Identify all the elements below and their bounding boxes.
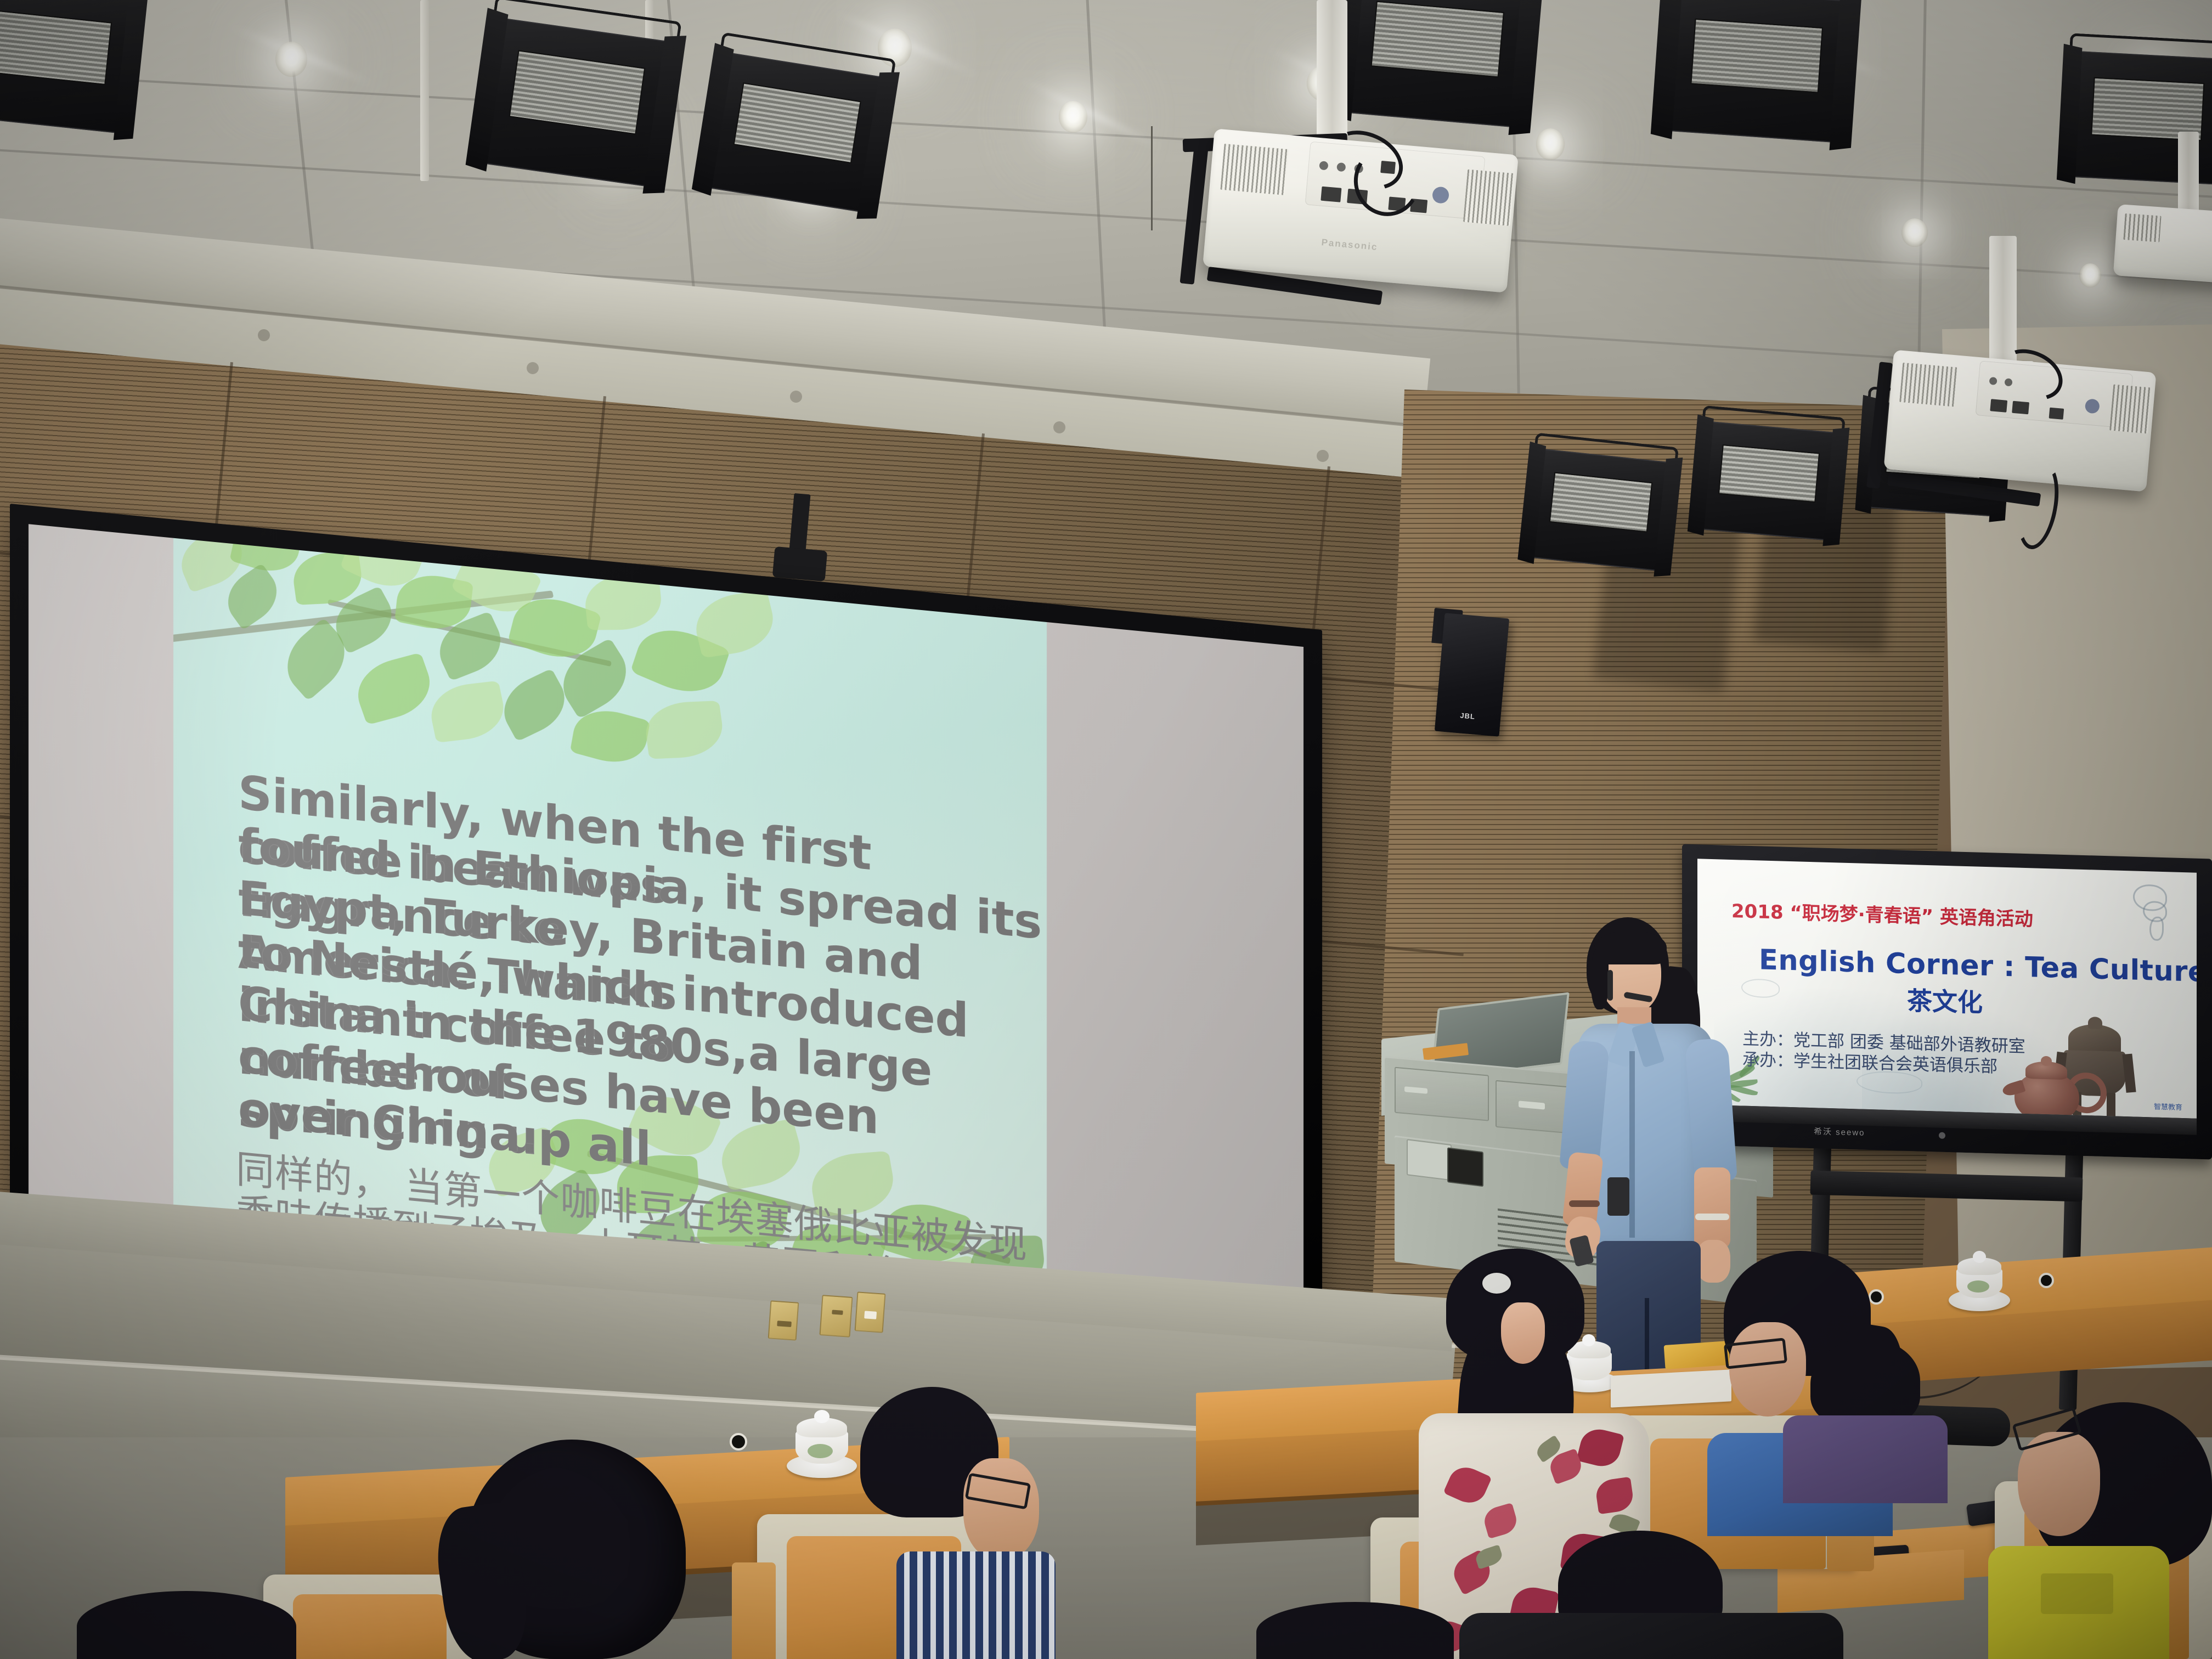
ceiling-downlight (1901, 218, 1928, 247)
wall-outlet[interactable] (768, 1300, 799, 1340)
stage-light (0, 0, 131, 133)
ceiling-projector (2112, 148, 2212, 291)
lecture-hall-photo: Panasonic JBL (0, 0, 2212, 1659)
attendee-bottom-left (77, 1591, 307, 1659)
tv-watermark: 智慧教育 (2154, 1101, 2182, 1112)
attendee-face (1501, 1302, 1545, 1364)
attendee-front-left-man (830, 1387, 1049, 1659)
hair-clip (1482, 1273, 1511, 1294)
tv-power-led (1939, 1132, 1945, 1139)
stage-light (709, 53, 883, 212)
attendee-front-left-woman (450, 1440, 708, 1659)
attendee-dark-top (1459, 1613, 1843, 1659)
stage-light (484, 18, 667, 187)
wall-outlet[interactable] (855, 1291, 886, 1333)
ink-cloud-decoration (2149, 916, 2164, 941)
desk-microphone-button[interactable] (2039, 1273, 2054, 1288)
stage-light (1669, 0, 1843, 143)
attendee-hair (1256, 1602, 1454, 1659)
stage-light-wall (1532, 449, 1669, 571)
attendee-right-yellow-woman (1953, 1426, 2212, 1659)
presenter-arm-right (1685, 1038, 1737, 1183)
stage-light-wall (1701, 421, 1835, 540)
tv-screen: 2018 “职场梦·青春语” 英语角活动 English Corner : Te… (1697, 859, 2197, 1118)
screen-ceiling-bracket (772, 546, 828, 582)
lidded-teacup[interactable] (1946, 1249, 2012, 1314)
presenter-forearm-right (1694, 1167, 1730, 1249)
tv-title: English Corner : Tea Culture (1759, 944, 2197, 989)
attendee-bottom-right (1256, 1602, 1454, 1659)
tv-subtitle: 茶文化 (1907, 981, 1983, 1019)
tv-header-line: 2018 “职场梦·青春语” 英语角活动 (1731, 896, 2033, 931)
presenter-shirt-placket (1629, 1051, 1635, 1238)
ceiling-projector: Panasonic (1163, 5, 1580, 302)
lcd-display-panel[interactable]: 2018 “职场梦·青春语” 英语角活动 English Corner : Te… (1682, 844, 2212, 1160)
attendee-plaid-shirt (896, 1551, 1056, 1659)
auditorium-seat-arm (732, 1562, 776, 1659)
wall-speaker: JBL (1435, 613, 1509, 736)
auditorium-seat-pad (293, 1594, 447, 1659)
presenter-wrist-band (1569, 1200, 1600, 1207)
attendee-purple-top (1783, 1415, 1948, 1503)
attendee-bottom-dark (1459, 1531, 1843, 1659)
jacket-pocket-flap (2041, 1573, 2113, 1614)
attendee-hair (1810, 1339, 1920, 1426)
desk-microphone-button[interactable] (730, 1433, 747, 1451)
tv-brand-logo: 希沃 seewo (1814, 1125, 1865, 1138)
presenter-mic-beltpack (1607, 1177, 1629, 1216)
presenter-bracelet (1695, 1214, 1729, 1220)
teapot-illustration (2004, 1058, 2113, 1119)
light-hanger-rod (420, 0, 429, 181)
attendee-hair (77, 1591, 296, 1659)
wall-outlet[interactable] (819, 1295, 853, 1338)
attendee-back-purple (1772, 1339, 1959, 1503)
